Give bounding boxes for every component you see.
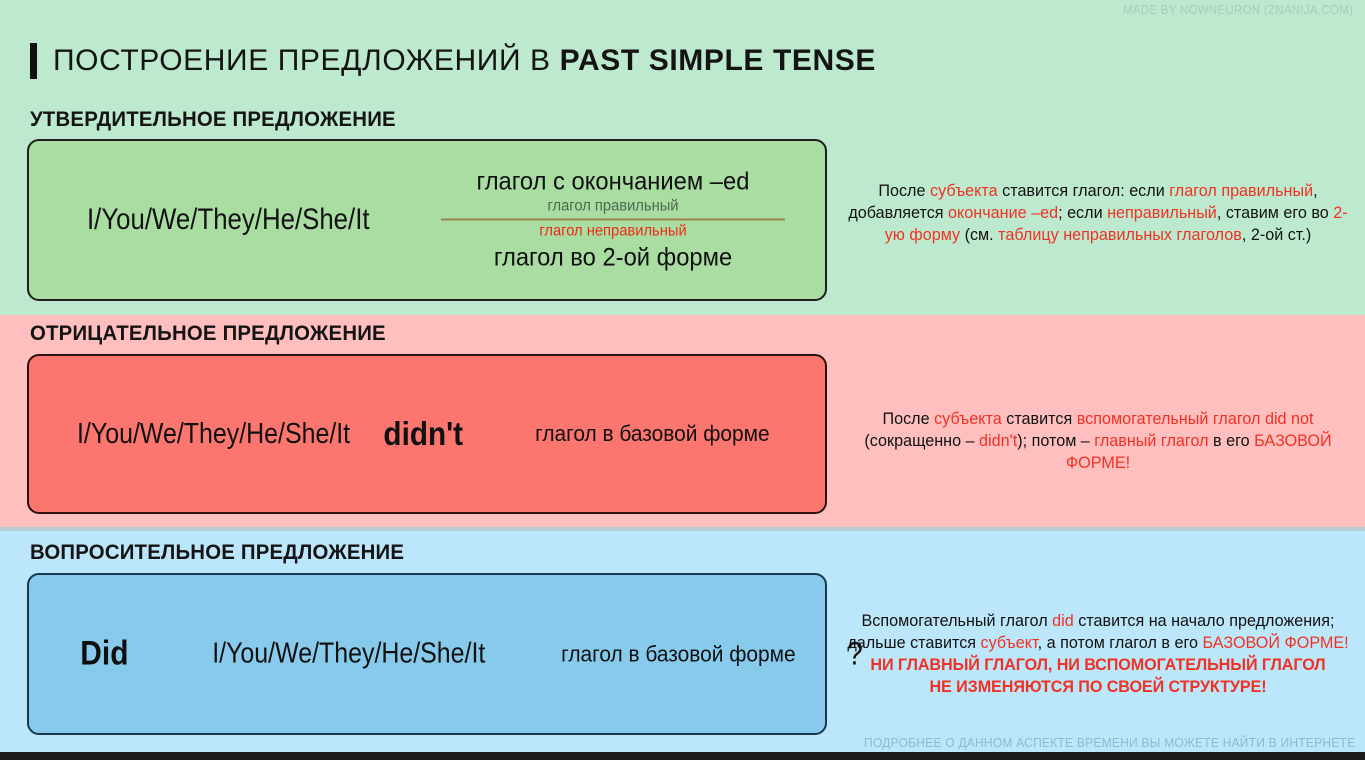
explanation-interrogative-caps-1: НИ ГЛАВНЫЙ ГЛАГОЛ, НИ ВСПОМОГАТЕЛЬНЫЙ ГЛ… [841, 655, 1355, 677]
negative-subject: I/You/We/They/He/She/It [77, 418, 361, 451]
affirmative-verb-irregular-note: глагол неправильный [450, 223, 777, 241]
watermark-bottom: ПОДРОБНЕЕ О ДАННОМ АСПЕКТЕ ВРЕМЕНИ ВЫ МО… [864, 735, 1355, 750]
explanation-interrogative-body: Вспомогательный глагол did ставится на н… [847, 612, 1348, 652]
affirmative-verb-irregular: глагол во 2-ой форме [450, 244, 777, 273]
watermark-top: MADE BY NOWNEURON (ZNANIJA.COM) [1123, 3, 1353, 17]
verb-divider-rule [441, 219, 785, 221]
footer-bar [0, 752, 1365, 760]
explanation-interrogative: Вспомогательный глагол did ставится на н… [841, 611, 1355, 699]
heading-negative: ОТРИЦАТЕЛЬНОЕ ПРЕДЛОЖЕНИЕ [30, 322, 386, 346]
heading-affirmative: УТВЕРДИТЕЛЬНОЕ ПРЕДЛОЖЕНИЕ [30, 108, 396, 132]
interrogative-formula-row: Did I/You/We/They/He/She/It глагол в баз… [29, 635, 825, 674]
interrogative-auxiliary: Did [80, 635, 128, 674]
interrogative-subject: I/You/We/They/He/She/It [212, 638, 485, 671]
affirmative-verb-stack: глагол с окончанием –ed глагол правильны… [441, 168, 785, 273]
explanation-interrogative-caps-2: НЕ ИЗМЕНЯЮТСЯ ПО СВОЕЙ СТРУКТУРЕ! [841, 677, 1355, 699]
negative-formula-row: I/You/We/They/He/She/It didn't глагол в … [29, 415, 825, 453]
affirmative-subject: I/You/We/They/He/She/It [87, 203, 370, 237]
page-title-plain: ПОСТРОЕНИЕ ПРЕДЛОЖЕНИЙ В [53, 44, 560, 77]
formula-box-negative: I/You/We/They/He/She/It didn't глагол в … [27, 354, 827, 514]
page-header: ПОСТРОЕНИЕ ПРЕДЛОЖЕНИЙ В PAST SIMPLE TEN… [30, 40, 876, 82]
interrogative-base-verb: глагол в базовой форме [562, 641, 796, 667]
formula-box-interrogative: Did I/You/We/They/He/She/It глагол в баз… [27, 573, 827, 735]
affirmative-verb-regular: глагол с окончанием –ed [450, 168, 777, 197]
negative-auxiliary: didn't [383, 415, 463, 453]
page-title: ПОСТРОЕНИЕ ПРЕДЛОЖЕНИЙ В PAST SIMPLE TEN… [53, 44, 876, 78]
page-title-strong: PAST SIMPLE TENSE [560, 44, 876, 77]
heading-interrogative: ВОПРОСИТЕЛЬНОЕ ПРЕДЛОЖЕНИЕ [30, 541, 404, 565]
explanation-affirmative: После субъекта ставится глагол: если гла… [841, 181, 1355, 247]
explanation-negative: После субъекта ставится вспомогательный … [841, 409, 1355, 475]
formula-box-affirmative: I/You/We/They/He/She/It глагол с окончан… [27, 139, 827, 301]
header-accent-bar [30, 43, 37, 79]
negative-base-verb: глагол в базовой форме [536, 421, 770, 447]
affirmative-verb-regular-note: глагол правильный [450, 198, 777, 216]
